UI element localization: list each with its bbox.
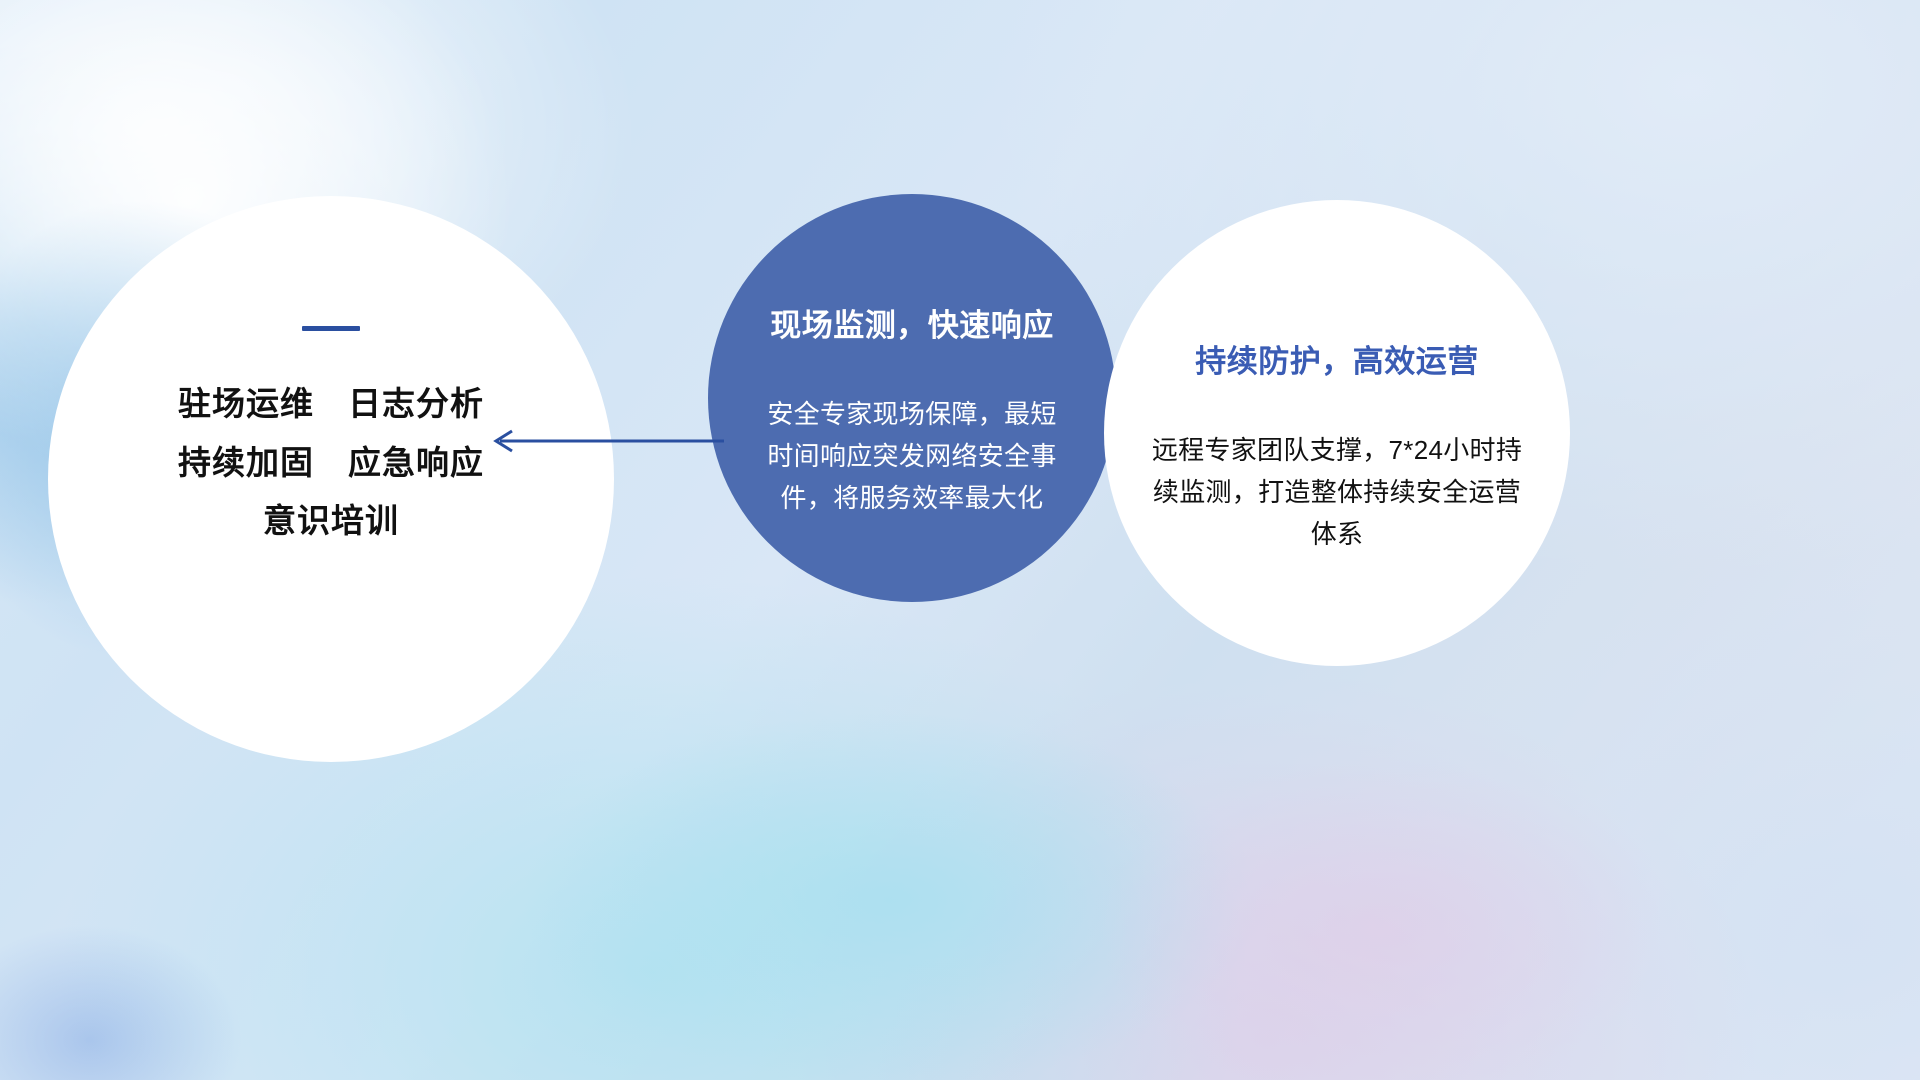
middle-circle-body: 安全专家现场保障，最短时间响应突发网络安全事件，将服务效率最大化 bbox=[757, 393, 1067, 519]
flow-arrow-icon bbox=[486, 420, 726, 462]
left-circle-capabilities: 驻场运维 日志分析 持续加固 应急响应 意识培训 bbox=[48, 196, 614, 762]
slide-canvas: 驻场运维 日志分析 持续加固 应急响应 意识培训 现场监测，快速响应 安全专家现… bbox=[0, 0, 1920, 1080]
middle-circle-title: 现场监测，快速响应 bbox=[770, 300, 1054, 345]
right-circle-continuous-protection: 持续防护，高效运营 远程专家团队支撑，7*24小时持续监测，打造整体持续安全运营… bbox=[1104, 200, 1570, 666]
right-circle-body: 远程专家团队支撑，7*24小时持续监测，打造整体持续安全运营体系 bbox=[1141, 429, 1533, 555]
background-glow-bottom-right bbox=[1000, 700, 1760, 1080]
background-glow-bottom-left bbox=[0, 880, 300, 1080]
background-glow-bottom-center bbox=[380, 640, 1400, 1080]
middle-circle-onsite-monitoring: 现场监测，快速响应 安全专家现场保障，最短时间响应突发网络安全事件，将服务效率最… bbox=[708, 194, 1116, 602]
right-circle-title: 持续防护，高效运营 bbox=[1195, 336, 1479, 381]
list-item: 意识培训 bbox=[48, 492, 614, 551]
divider-line-icon bbox=[302, 326, 360, 331]
capability-list: 驻场运维 日志分析 持续加固 应急响应 意识培训 bbox=[48, 375, 614, 551]
